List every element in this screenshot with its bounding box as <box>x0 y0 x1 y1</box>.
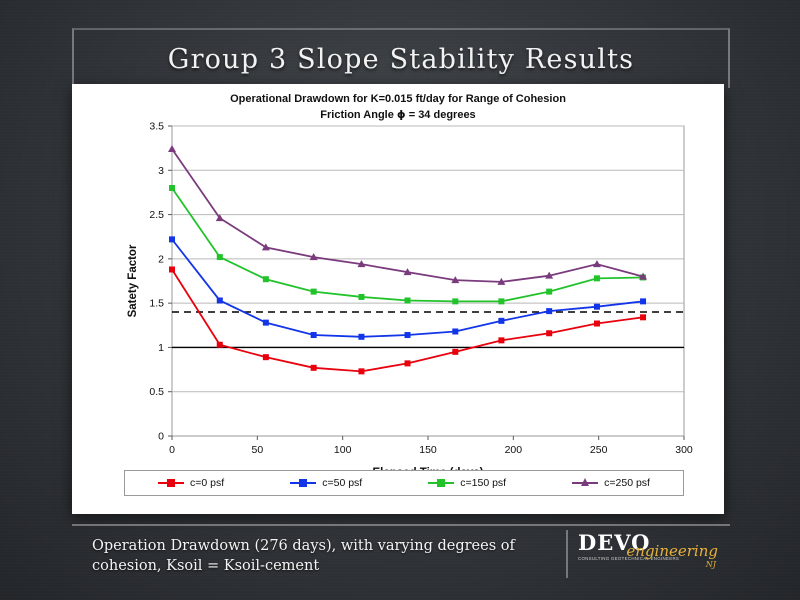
legend-label: c=50 psf <box>322 477 362 489</box>
legend-item-0: c=0 psf <box>158 477 224 489</box>
data-point <box>640 298 646 304</box>
y-tick-label: 1 <box>158 342 164 354</box>
data-point <box>217 254 223 260</box>
logo: DEVO CONSULTING GEOTECHNICAL ENGINEERS e… <box>566 530 726 578</box>
legend-label: c=250 psf <box>604 477 650 489</box>
logo-word: engineering <box>626 542 718 560</box>
data-point <box>452 349 458 355</box>
data-point <box>405 360 411 366</box>
data-point <box>594 304 600 310</box>
y-tick-label: 2 <box>158 253 164 265</box>
legend-label: c=0 psf <box>190 477 224 489</box>
x-tick-label: 200 <box>505 444 523 456</box>
y-tick-label: 3.5 <box>149 121 164 133</box>
chart-paper: Operational Drawdown for K=0.015 ft/day … <box>72 84 724 514</box>
legend-label: c=150 psf <box>460 477 506 489</box>
data-point <box>217 342 223 348</box>
data-point <box>358 334 364 340</box>
legend-marker <box>167 479 175 487</box>
data-point <box>498 318 504 324</box>
data-point <box>311 365 317 371</box>
data-point <box>546 330 552 336</box>
y-axis-label: Satety Factor <box>127 244 139 317</box>
title-panel: Group 3 Slope Stability Results <box>72 28 730 88</box>
y-tick-label: 3 <box>158 165 164 177</box>
data-point <box>640 314 646 320</box>
x-tick-label: 250 <box>590 444 608 456</box>
plot-frame <box>172 126 684 436</box>
data-point <box>217 297 223 303</box>
data-point <box>358 294 364 300</box>
data-point <box>405 332 411 338</box>
x-tick-label: 150 <box>419 444 437 456</box>
y-tick-label: 1.5 <box>149 298 164 310</box>
data-point <box>311 289 317 295</box>
data-point <box>169 185 175 191</box>
chart-svg: 00.511.522.533.5050100150200250300Elapse… <box>72 84 724 514</box>
legend-marker <box>437 479 445 487</box>
caption-bar: Operation Drawdown (276 days), with vary… <box>72 524 730 580</box>
data-point <box>498 298 504 304</box>
x-tick-label: 0 <box>169 444 175 456</box>
plot-area: 00.511.522.533.5050100150200250300Elapse… <box>72 84 724 514</box>
legend-swatch <box>158 482 184 484</box>
data-point <box>263 320 269 326</box>
legend-swatch <box>572 482 598 484</box>
data-point <box>358 368 364 374</box>
legend-item-3: c=250 psf <box>572 477 650 489</box>
data-point <box>169 266 175 272</box>
data-point <box>594 275 600 281</box>
legend-item-2: c=150 psf <box>428 477 506 489</box>
legend-marker <box>581 478 589 486</box>
data-point <box>452 298 458 304</box>
data-point <box>594 321 600 327</box>
y-tick-label: 2.5 <box>149 209 164 221</box>
chart-legend: c=0 psfc=50 psfc=150 psfc=250 psf <box>124 470 684 496</box>
data-point <box>546 289 552 295</box>
y-tick-label: 0.5 <box>149 386 164 398</box>
x-tick-label: 100 <box>334 444 352 456</box>
data-point <box>311 332 317 338</box>
data-point <box>405 297 411 303</box>
data-point <box>263 354 269 360</box>
data-point <box>546 308 552 314</box>
x-tick-label: 50 <box>251 444 263 456</box>
data-point <box>498 337 504 343</box>
data-point <box>452 328 458 334</box>
data-point <box>169 236 175 242</box>
legend-marker <box>299 479 307 487</box>
x-tick-label: 300 <box>675 444 693 456</box>
y-tick-label: 0 <box>158 431 164 443</box>
legend-swatch <box>290 482 316 484</box>
slide-caption: Operation Drawdown (276 days), with vary… <box>92 536 552 576</box>
page-title: Group 3 Slope Stability Results <box>74 44 728 75</box>
legend-swatch <box>428 482 454 484</box>
legend-item-1: c=50 psf <box>290 477 362 489</box>
data-point <box>263 276 269 282</box>
logo-state: NJ <box>706 560 716 569</box>
